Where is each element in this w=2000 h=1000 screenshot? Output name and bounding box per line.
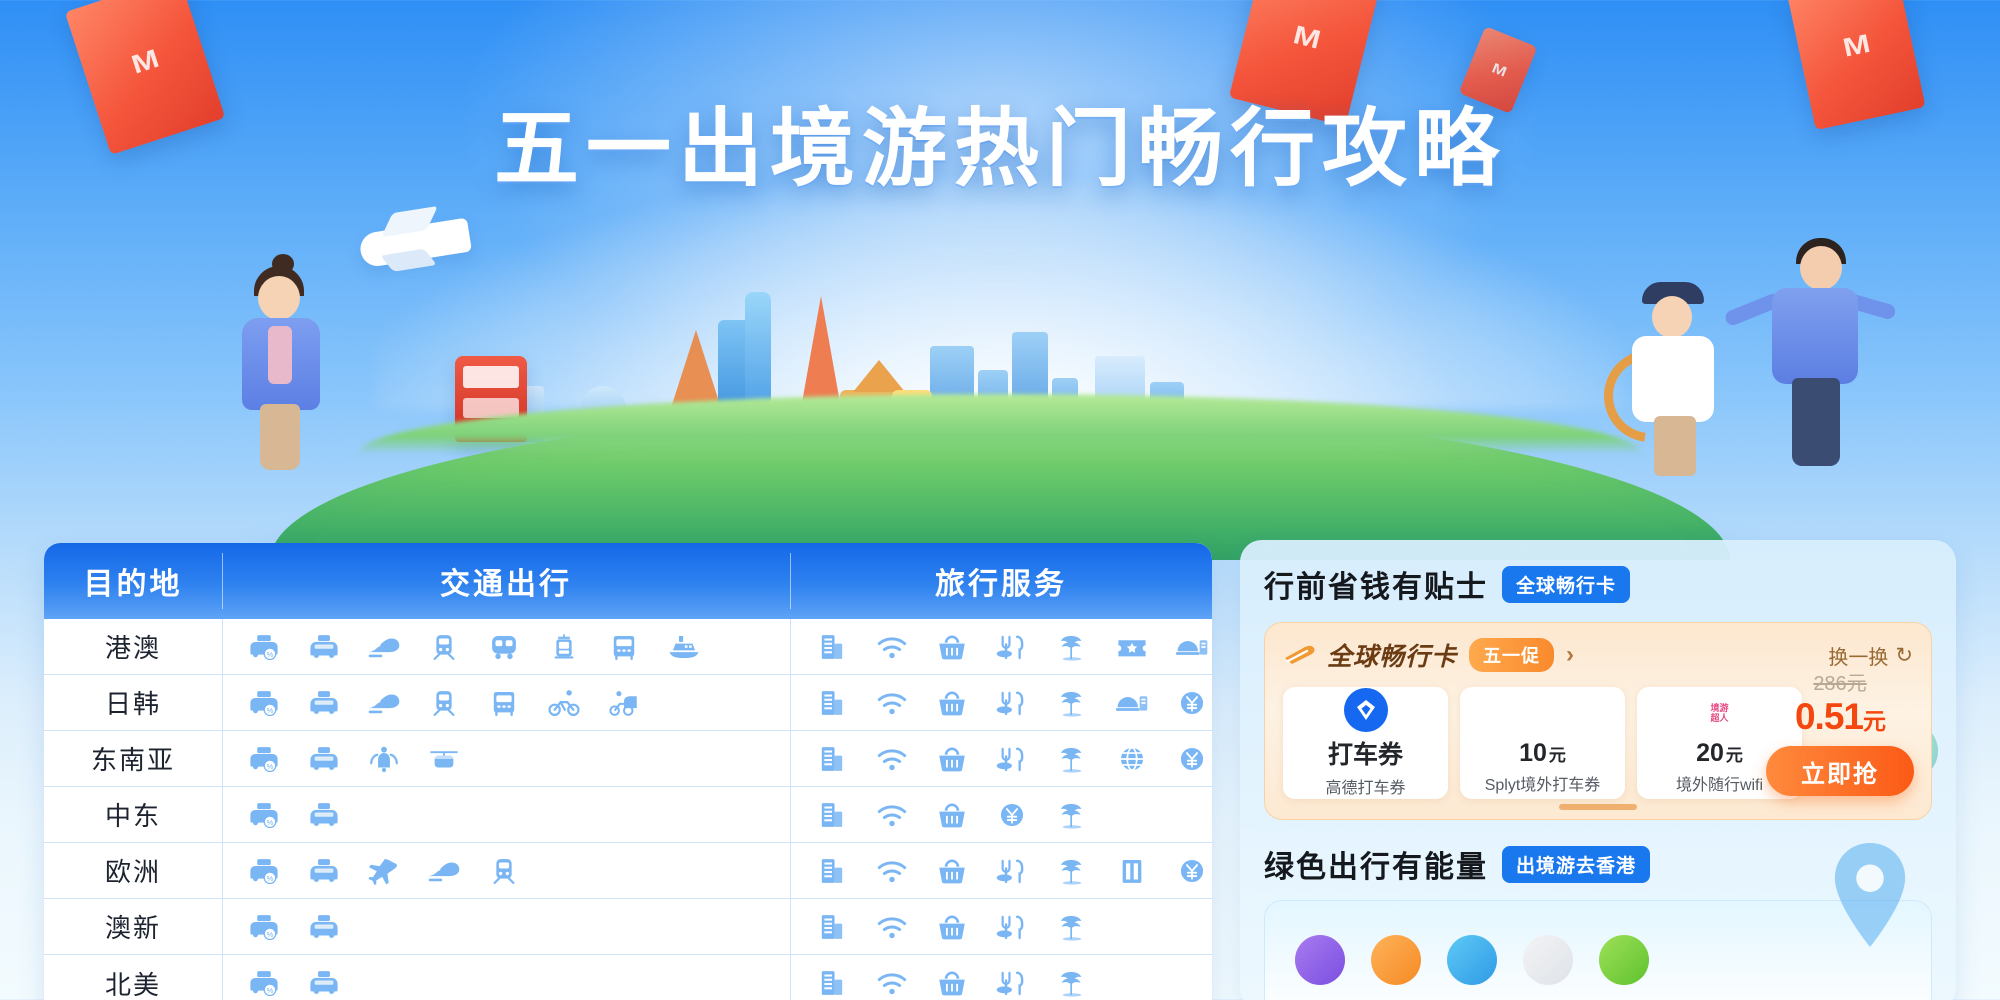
currency-unit: 元 xyxy=(1863,708,1885,734)
shopping-basket-icon xyxy=(930,686,974,720)
column-header-services: 旅行服务 xyxy=(790,543,1212,619)
currency-icon xyxy=(1170,686,1212,720)
shopping-basket-icon xyxy=(930,910,974,944)
energy-dot-icon xyxy=(1295,935,1345,985)
promo-card[interactable]: 全球畅行卡 五一促 › 换一换 ↻ 打车券高德打车券10元Splyt境外打车券境… xyxy=(1264,622,1932,820)
destination-services-table: 目的地 交通出行 旅行服务 港澳%日韩%东南亚%中东%欧洲%澳新%北美% xyxy=(44,543,1212,1000)
price-box: 286元 0.51元 立即抢 xyxy=(1765,667,1915,796)
location-pin-icon xyxy=(1824,840,1916,950)
table-row: 欧洲% xyxy=(44,843,1212,899)
table-row: 中东% xyxy=(44,787,1212,843)
coupon-price: 20元 xyxy=(1696,739,1743,768)
table-row: 东南亚% xyxy=(44,731,1212,787)
taxi-discount-icon: % xyxy=(242,742,286,776)
svg-text:%: % xyxy=(267,706,274,715)
taxi-icon xyxy=(302,798,346,832)
section2-badge: 出境游去香港 xyxy=(1502,846,1650,883)
promo-brand-name: 全球畅行卡 xyxy=(1327,637,1457,673)
cell-destination: 北美 xyxy=(44,955,222,1000)
attraction-icon xyxy=(1050,798,1094,832)
dining-icon xyxy=(990,854,1034,888)
hotel-icon xyxy=(810,686,854,720)
cell-transport: % xyxy=(222,787,790,842)
attraction-icon xyxy=(1050,966,1094,1000)
taxi-discount-icon: % xyxy=(242,686,286,720)
svg-text:%: % xyxy=(267,650,274,659)
shopping-basket-icon xyxy=(930,630,974,664)
high-speed-train-icon xyxy=(362,686,406,720)
metro-icon xyxy=(422,686,466,720)
taxi-discount-icon: % xyxy=(242,630,286,664)
cell-transport: % xyxy=(222,731,790,786)
museum-icon xyxy=(1110,854,1154,888)
svg-text:%: % xyxy=(267,986,274,995)
attraction-icon xyxy=(1050,742,1094,776)
svg-text:%: % xyxy=(267,818,274,827)
swap-button[interactable]: 换一换 ↻ xyxy=(1828,641,1913,670)
wifi-icon xyxy=(870,854,914,888)
cell-transport: % xyxy=(222,843,790,898)
taxi-icon xyxy=(302,910,346,944)
metro-icon xyxy=(482,854,526,888)
gaode-logo-icon xyxy=(1344,688,1388,732)
taxi-icon xyxy=(302,630,346,664)
column-header-destination: 目的地 xyxy=(44,543,222,619)
hotel-icon xyxy=(810,966,854,1000)
coupon-description: Splyt境外打车券 xyxy=(1485,771,1601,795)
dining-icon xyxy=(990,742,1034,776)
wifi-icon xyxy=(870,686,914,720)
dining-icon xyxy=(990,966,1034,1000)
attraction-icon xyxy=(1050,854,1094,888)
taxi-icon xyxy=(302,742,346,776)
cell-destination: 澳新 xyxy=(44,899,222,954)
current-price: 0.51元 xyxy=(1765,696,1915,738)
taxi-icon xyxy=(302,966,346,1000)
cell-transport: % xyxy=(222,955,790,1000)
tuktuk-icon xyxy=(362,742,406,776)
plane-icon xyxy=(362,854,406,888)
dining-icon xyxy=(990,910,1034,944)
energy-dot-icon xyxy=(1447,935,1497,985)
taxi-discount-icon: % xyxy=(242,854,286,888)
cell-destination: 中东 xyxy=(44,787,222,842)
cell-transport: % xyxy=(222,899,790,954)
table-header-row: 目的地 交通出行 旅行服务 xyxy=(44,543,1212,619)
coach-icon xyxy=(602,630,646,664)
cell-services xyxy=(790,675,1212,730)
bike-icon xyxy=(542,686,586,720)
wifi-brand-icon: 境游超人 xyxy=(1700,692,1740,736)
table-row: 北美% xyxy=(44,955,1212,1000)
ferry-icon xyxy=(662,630,706,664)
wifi-icon xyxy=(870,742,914,776)
currency-icon xyxy=(990,798,1034,832)
cell-services xyxy=(790,787,1212,842)
hotel-icon xyxy=(810,798,854,832)
column-header-transport: 交通出行 xyxy=(222,543,790,619)
high-speed-train-icon xyxy=(422,854,466,888)
table-body: 港澳%日韩%东南亚%中东%欧洲%澳新%北美% xyxy=(44,619,1212,1000)
table-row: 港澳% xyxy=(44,619,1212,675)
taxi-discount-icon: % xyxy=(242,966,286,1000)
hotel-icon xyxy=(810,910,854,944)
shopping-basket-icon xyxy=(930,798,974,832)
attraction-icon xyxy=(1050,910,1094,944)
section2-title: 绿色出行有能量 xyxy=(1264,842,1488,886)
energy-dot-icon xyxy=(1523,935,1573,985)
coupon-description: 境外随行wifi xyxy=(1676,771,1763,795)
coupon-description: 高德打车券 xyxy=(1325,774,1405,798)
coach-icon xyxy=(482,686,526,720)
svg-text:%: % xyxy=(267,762,274,771)
high-speed-train-icon xyxy=(362,630,406,664)
currency-icon xyxy=(1170,854,1212,888)
coupon-price: 打车券 xyxy=(1328,735,1403,771)
buy-now-button[interactable]: 立即抢 xyxy=(1766,746,1914,796)
svg-text:%: % xyxy=(267,874,274,883)
refresh-icon: ↻ xyxy=(1895,643,1913,668)
table-row: 日韩% xyxy=(44,675,1212,731)
global-icon xyxy=(1110,742,1154,776)
carousel-indicator[interactable] xyxy=(1559,804,1637,810)
hotel-icon xyxy=(810,742,854,776)
attraction-icon xyxy=(1050,630,1094,664)
metro-icon xyxy=(422,630,466,664)
taxi-discount-icon: % xyxy=(242,910,286,944)
swap-label: 换一换 xyxy=(1828,641,1888,670)
coupon-price: 10元 xyxy=(1519,739,1566,768)
card-swipe-icon xyxy=(1283,643,1317,667)
wifi-icon xyxy=(870,798,914,832)
chevron-right-icon[interactable]: › xyxy=(1566,641,1574,669)
shopping-basket-icon xyxy=(930,854,974,888)
coupon-card[interactable]: 10元Splyt境外打车券 xyxy=(1460,687,1625,799)
taxi-icon xyxy=(302,854,346,888)
shopping-basket-icon xyxy=(930,966,974,1000)
cell-services xyxy=(790,619,1212,674)
dining-icon xyxy=(990,686,1034,720)
cell-transport: % xyxy=(222,675,790,730)
cell-destination: 欧洲 xyxy=(44,843,222,898)
attraction-icon xyxy=(1050,686,1094,720)
energy-dot-icon xyxy=(1371,935,1421,985)
cell-destination: 港澳 xyxy=(44,619,222,674)
tram-icon xyxy=(542,630,586,664)
hotel-icon xyxy=(810,630,854,664)
original-price: 286元 xyxy=(1765,667,1915,696)
rickshaw-icon xyxy=(602,686,646,720)
cell-services xyxy=(790,899,1212,954)
cell-destination: 东南亚 xyxy=(44,731,222,786)
currency-icon xyxy=(1170,742,1212,776)
cell-services xyxy=(790,731,1212,786)
wifi-icon xyxy=(870,966,914,1000)
taxi-discount-icon: % xyxy=(242,798,286,832)
table-row: 澳新% xyxy=(44,899,1212,955)
section-title-savings: 行前省钱有贴士 全球畅行卡 xyxy=(1264,562,1932,606)
taxi-icon xyxy=(302,686,346,720)
cell-services xyxy=(790,955,1212,1000)
cablecar-icon xyxy=(422,742,466,776)
cell-destination: 日韩 xyxy=(44,675,222,730)
cell-services xyxy=(790,843,1212,898)
sidebar-panel: 行前省钱有贴士 全球畅行卡 全球畅行卡 五一促 › 换一换 ↻ xyxy=(1240,540,1956,1000)
promo-brand: 全球畅行卡 xyxy=(1283,637,1457,673)
shopping-basket-icon xyxy=(930,742,974,776)
svg-text:%: % xyxy=(267,930,274,939)
ticket-icon xyxy=(1110,630,1154,664)
current-price-value: 0.51 xyxy=(1795,696,1863,737)
hotel-icon xyxy=(810,854,854,888)
section1-badge: 全球畅行卡 xyxy=(1502,566,1630,603)
dining-icon xyxy=(990,630,1034,664)
wifi-icon xyxy=(870,630,914,664)
bus-icon xyxy=(482,630,526,664)
cell-transport: % xyxy=(222,619,790,674)
food-delivery-icon xyxy=(1110,686,1154,720)
food-delivery-icon xyxy=(1170,630,1212,664)
section1-title: 行前省钱有贴士 xyxy=(1264,562,1488,606)
promo-tag: 五一促 xyxy=(1469,638,1554,672)
wifi-icon xyxy=(870,910,914,944)
energy-dot-icon xyxy=(1599,935,1649,985)
coupon-card[interactable]: 打车券高德打车券 xyxy=(1283,687,1448,799)
